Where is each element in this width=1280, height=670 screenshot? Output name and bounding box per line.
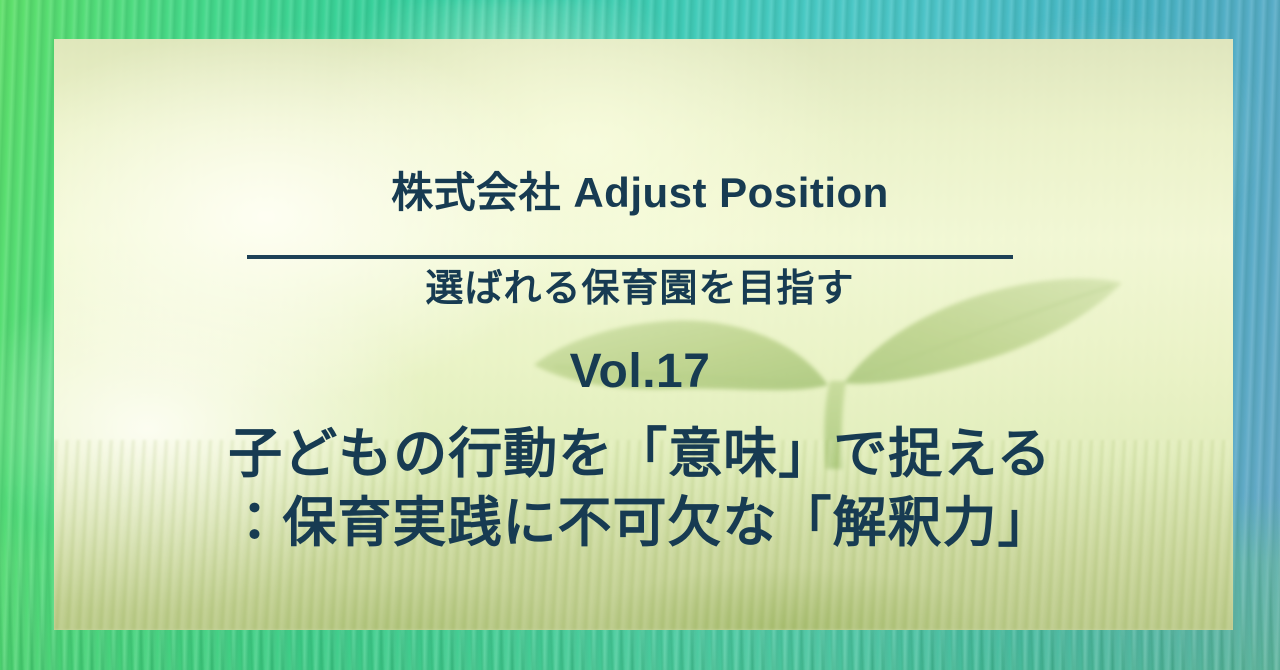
company-tagline: 選ばれる保育園を目指す	[0, 268, 1280, 312]
slide-title-line-1: 子どもの行動を「意味」で捉える	[0, 420, 1280, 489]
slide-title: 子どもの行動を「意味」で捉える ：保育実践に不可欠な「解釈力」	[0, 420, 1280, 558]
divider-rule	[247, 255, 1013, 259]
company-name: 株式会社 Adjust Position	[0, 172, 1280, 214]
title-slide: 株式会社 Adjust Position 選ばれる保育園を目指す Vol.17 …	[0, 0, 1280, 670]
slide-content: 株式会社 Adjust Position 選ばれる保育園を目指す Vol.17 …	[0, 0, 1280, 670]
volume-label: Vol.17	[0, 348, 1280, 396]
slide-title-line-2: ：保育実践に不可欠な「解釈力」	[0, 489, 1280, 558]
